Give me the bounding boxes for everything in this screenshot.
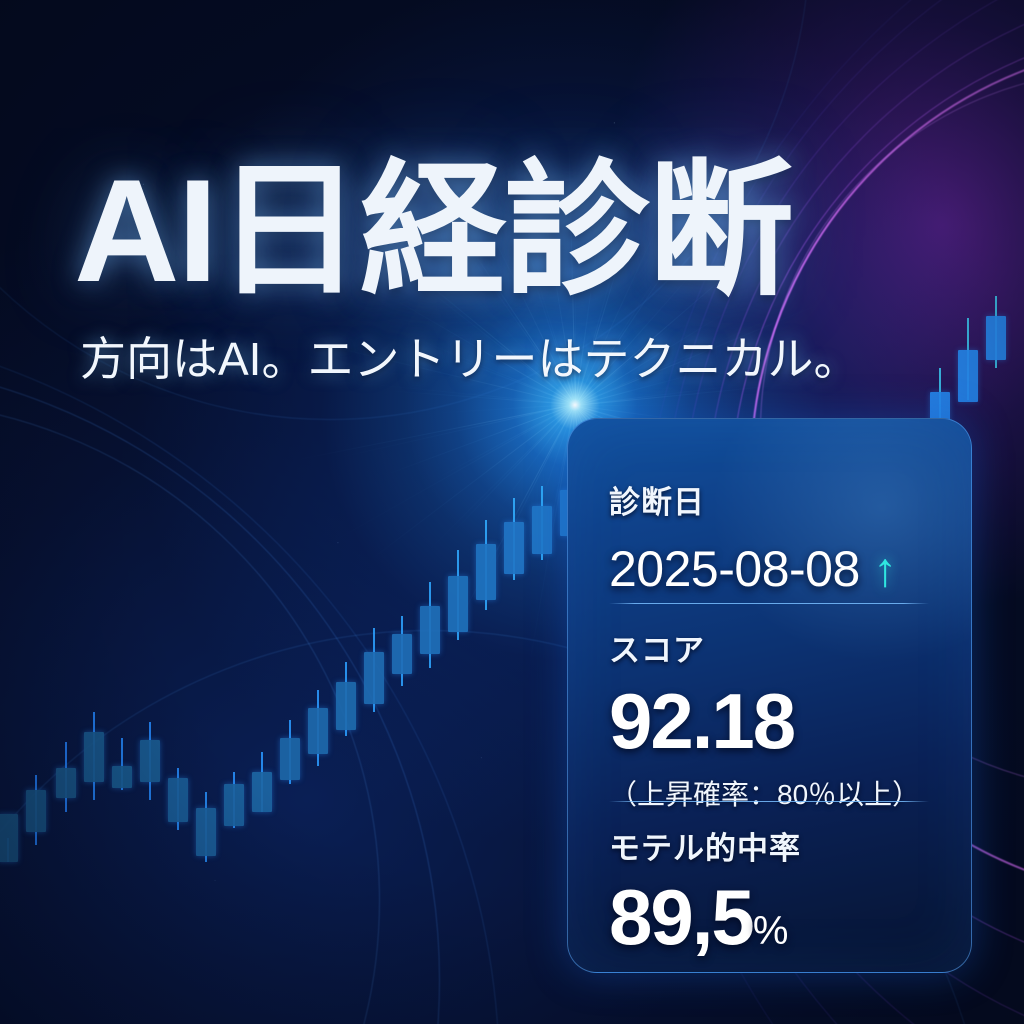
candle-body (986, 316, 1006, 360)
candle-body (112, 766, 132, 788)
candlestick (308, 690, 328, 766)
candlestick (112, 738, 132, 790)
candle-body (280, 738, 300, 780)
candle-body (196, 808, 216, 856)
page-title: AI日経診断 (74, 158, 874, 304)
candlestick (0, 838, 18, 862)
candle-body (336, 682, 356, 730)
candlestick (420, 582, 440, 668)
page-subtitle: 方向はAI。エントリーはテクニカル。 (80, 336, 910, 382)
candle-body (252, 772, 272, 812)
candle-body (56, 768, 76, 798)
candlestick (392, 616, 412, 686)
candle-body (224, 784, 244, 826)
candlestick (196, 792, 216, 862)
candlestick (84, 712, 104, 800)
candle-body (26, 790, 46, 832)
candle-body (476, 544, 496, 600)
diagnosis-date-value-row: 2025-08-08 ↑ (609, 540, 897, 598)
score-value: 92.18 (609, 676, 920, 767)
candle-body (420, 606, 440, 654)
score-label: スコア (609, 625, 920, 670)
candle-body (504, 522, 524, 574)
candlestick (140, 722, 160, 800)
candle-body (392, 634, 412, 674)
candlestick (476, 520, 496, 610)
candlestick (364, 628, 384, 712)
poster-canvas: AI日経診断 方向はAI。エントリーはテクニカル。 診断日 2025-08-08… (0, 0, 1024, 1024)
model-accuracy-value-row: 89,5% (609, 872, 801, 963)
candlestick (504, 498, 524, 580)
score-note: （上昇確率：80％以上） (609, 773, 920, 813)
model-accuracy-value: 89,5 (609, 873, 753, 961)
section-model-accuracy: モテル的中率 89,5% (609, 823, 801, 963)
card-divider-2 (609, 801, 929, 802)
card-divider-1 (609, 603, 929, 604)
candle-body (308, 708, 328, 754)
candlestick (168, 768, 188, 830)
section-score: スコア 92.18 （上昇確率：80％以上） (609, 625, 920, 813)
stats-card: 診断日 2025-08-08 ↑ スコア 92.18 （上昇確率：80％以上） … (567, 418, 972, 973)
candlestick (448, 550, 468, 640)
candle-body (140, 740, 160, 782)
candle-body (532, 506, 552, 554)
candlestick (532, 486, 552, 560)
candlestick (252, 752, 272, 812)
diagnosis-date-value: 2025-08-08 (609, 541, 860, 597)
diagnosis-date-label: 診断日 (609, 477, 897, 522)
candle-body (168, 778, 188, 822)
section-diagnosis-date: 診断日 2025-08-08 ↑ (609, 477, 897, 598)
candlestick (26, 775, 46, 845)
candlestick (224, 772, 244, 828)
percent-unit: % (753, 909, 789, 953)
model-accuracy-label: モテル的中率 (609, 823, 801, 868)
candlestick (280, 720, 300, 784)
candle-body (364, 652, 384, 704)
candle-body (0, 814, 18, 862)
candle-body (448, 576, 468, 632)
candlestick (336, 662, 356, 736)
candlestick (56, 742, 76, 812)
candle-body (84, 732, 104, 782)
candlestick (958, 318, 978, 400)
trend-up-arrow-icon: ↑ (873, 544, 897, 597)
candlestick (986, 296, 1006, 368)
candle-body (958, 350, 978, 402)
